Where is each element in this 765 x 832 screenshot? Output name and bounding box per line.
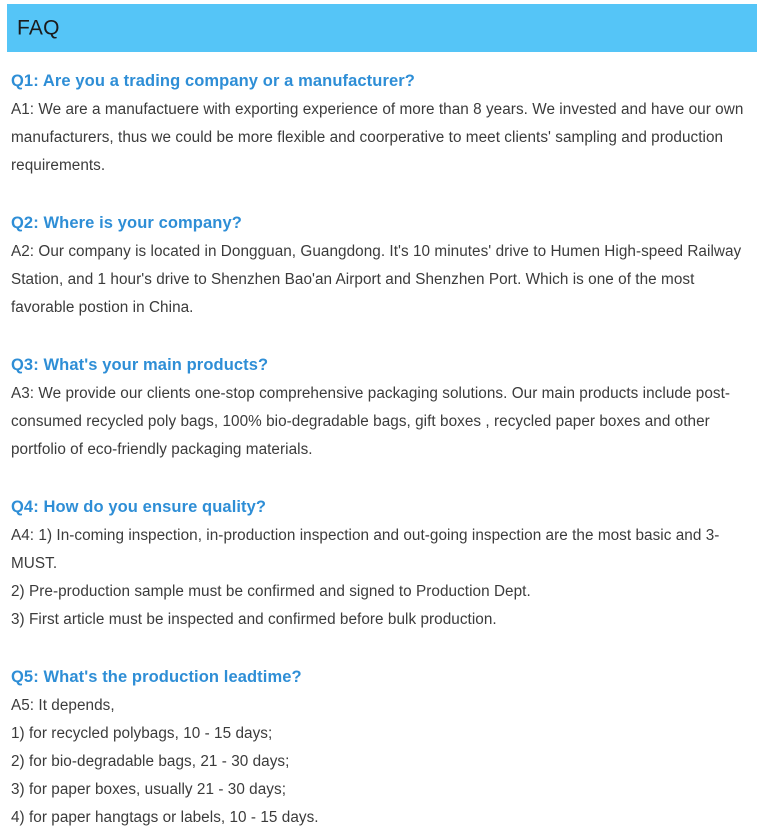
faq-answer: A4: 1) In-coming inspection, in-producti… [11, 522, 753, 634]
faq-answer-line: A4: 1) In-coming inspection, in-producti… [11, 522, 753, 578]
faq-answer: A3: We provide our clients one-stop comp… [11, 380, 753, 464]
faq-answer-line: 3) for paper boxes, usually 21 - 30 days… [11, 776, 753, 804]
page-title: FAQ [17, 18, 60, 39]
faq-item: Q2: Where is your company?A2: Our compan… [11, 210, 753, 322]
faq-page: FAQ Q1: Are you a trading company or a m… [0, 0, 765, 748]
faq-item: Q5: What's the production leadtime?A5: I… [11, 664, 753, 832]
faq-answer-line: 3) First article must be inspected and c… [11, 606, 753, 634]
faq-answer: A5: It depends,1) for recycled polybags,… [11, 692, 753, 832]
faq-answer-line: A2: Our company is located in Dongguan, … [11, 238, 753, 322]
faq-answer-line: 2) for bio-degradable bags, 21 - 30 days… [11, 748, 753, 776]
faq-answer-line: 2) Pre-production sample must be confirm… [11, 578, 753, 606]
faq-answer: A2: Our company is located in Dongguan, … [11, 238, 753, 322]
faq-item: Q4: How do you ensure quality?A4: 1) In-… [11, 494, 753, 634]
faq-question: Q5: What's the production leadtime? [11, 664, 753, 690]
faq-item: Q3: What's your main products?A3: We pro… [11, 352, 753, 464]
faq-answer-line: 1) for recycled polybags, 10 - 15 days; [11, 720, 753, 748]
faq-answer-line: A1: We are a manufactuere with exporting… [11, 96, 753, 180]
faq-list: Q1: Are you a trading company or a manuf… [11, 68, 753, 832]
faq-question: Q2: Where is your company? [11, 210, 753, 236]
faq-answer: A1: We are a manufactuere with exporting… [11, 96, 753, 180]
faq-item: Q1: Are you a trading company or a manuf… [11, 68, 753, 180]
faq-question: Q1: Are you a trading company or a manuf… [11, 68, 753, 94]
faq-answer-line: A5: It depends, [11, 692, 753, 720]
faq-answer-line: A3: We provide our clients one-stop comp… [11, 380, 753, 464]
faq-question: Q4: How do you ensure quality? [11, 494, 753, 520]
faq-header-bar: FAQ [7, 4, 757, 52]
faq-answer-line: 4) for paper hangtags or labels, 10 - 15… [11, 804, 753, 832]
faq-question: Q3: What's your main products? [11, 352, 753, 378]
